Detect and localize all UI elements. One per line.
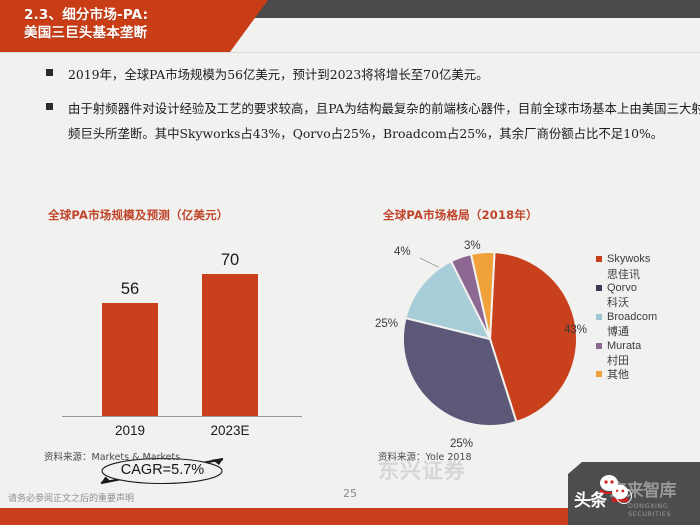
pie-pct-murata: 4% <box>394 246 411 258</box>
legend-label: Murata <box>607 340 641 352</box>
legend-item-other: 其他 <box>596 367 688 381</box>
legend-label: Broadcom <box>607 311 657 323</box>
legend-item-broadcom-cn: 博通 <box>596 324 688 338</box>
legend-item-skyworks-cn: 思佳讯 <box>596 266 688 280</box>
legend-swatch-icon <box>596 256 602 262</box>
pie-pct-broadcom: 25% <box>375 318 398 330</box>
legend-item-murata-cn: 村田 <box>596 353 688 367</box>
bar-value-label: 56 <box>102 280 158 299</box>
body-bullets: 2019年，全球PA市场规模为56亿美元，预计到2023将将增长至70亿美元。 … <box>46 62 700 155</box>
pie-chart-title: 全球PA市场格局（2018年） <box>383 207 538 223</box>
legend-label: Qorvo <box>607 282 637 294</box>
bullet-item: 由于射频器件对设计经验及工艺的要求较高，且PA为结构最复杂的前端核心器件，目前全… <box>46 96 700 146</box>
legend-item-broadcom: Broadcom <box>596 310 688 324</box>
bar-chart-axis <box>62 416 302 417</box>
pie-pct-other: 3% <box>464 240 481 252</box>
bar-chart: 56 70 2019 2023E CAGR=5.7% <box>40 225 325 445</box>
cagr-label: CAGR=5.7% <box>95 462 230 478</box>
watermark-brand-label: 头条 <box>574 486 606 511</box>
legend-item-qorvo: Qorvo <box>596 281 688 295</box>
pie-pct-skyworks: 43% <box>564 324 587 336</box>
header-divider <box>0 52 700 53</box>
watermark-badge-content: 来来智库 DONGXING SECURITIES 头条 <box>568 462 700 525</box>
pie-chart: 43% 25% 25% 4% 3% Skywoks 思佳讯 Qorvo 科沃 B… <box>368 228 686 443</box>
watermark-ghost-subtext: DONGXING SECURITIES <box>628 502 700 518</box>
bullet-square-icon <box>46 103 53 110</box>
legend-label: Skywoks <box>607 253 650 265</box>
legend-swatch-icon <box>596 285 602 291</box>
page-title: 2.3、细分市场-PA: 美国三巨头基本垄断 <box>24 7 274 42</box>
page-title-line1: 2.3、细分市场-PA: <box>24 7 274 25</box>
legend-swatch-icon <box>596 314 602 320</box>
watermark-ring-icon <box>616 488 632 504</box>
bar-2019 <box>102 303 158 416</box>
pie-slices <box>390 250 590 428</box>
bar-category-label: 2023E <box>190 423 270 438</box>
pie-legend: Skywoks 思佳讯 Qorvo 科沃 Broadcom 博通 Murata <box>596 252 688 382</box>
bar-2023e <box>202 274 258 416</box>
legend-label-cn: 博通 <box>607 323 629 339</box>
bar-chart-source: 资料来源：Markets & Markets <box>44 449 180 463</box>
legend-label: 其他 <box>607 366 629 382</box>
bullet-item: 2019年，全球PA市场规模为56亿美元，预计到2023将将增长至70亿美元。 <box>46 62 700 87</box>
bullet-square-icon <box>46 69 53 76</box>
legend-item-qorvo-cn: 科沃 <box>596 295 688 309</box>
slide: 2.3、细分市场-PA: 美国三巨头基本垄断 2019年，全球PA市场规模为56… <box>0 0 700 525</box>
legend-swatch-icon <box>596 371 602 377</box>
watermark-outer-text: 东兴证券 <box>378 455 466 485</box>
page-title-line2: 美国三巨头基本垄断 <box>24 25 274 43</box>
legend-label-cn: 科沃 <box>607 294 629 310</box>
legend-item-skyworks: Skywoks <box>596 252 688 266</box>
bullet-text: 由于射频器件对设计经验及工艺的要求较高，且PA为结构最复杂的前端核心器件，目前全… <box>68 96 700 146</box>
bar-value-label: 70 <box>202 251 258 270</box>
bar-chart-title: 全球PA市场规模及预测（亿美元） <box>48 207 228 223</box>
bullet-text: 2019年，全球PA市场规模为56亿美元，预计到2023将将增长至70亿美元。 <box>68 62 700 87</box>
legend-item-murata: Murata <box>596 338 688 352</box>
legend-swatch-icon <box>596 343 602 349</box>
bar-category-label: 2019 <box>90 423 170 438</box>
legend-label-cn: 思佳讯 <box>607 266 640 282</box>
